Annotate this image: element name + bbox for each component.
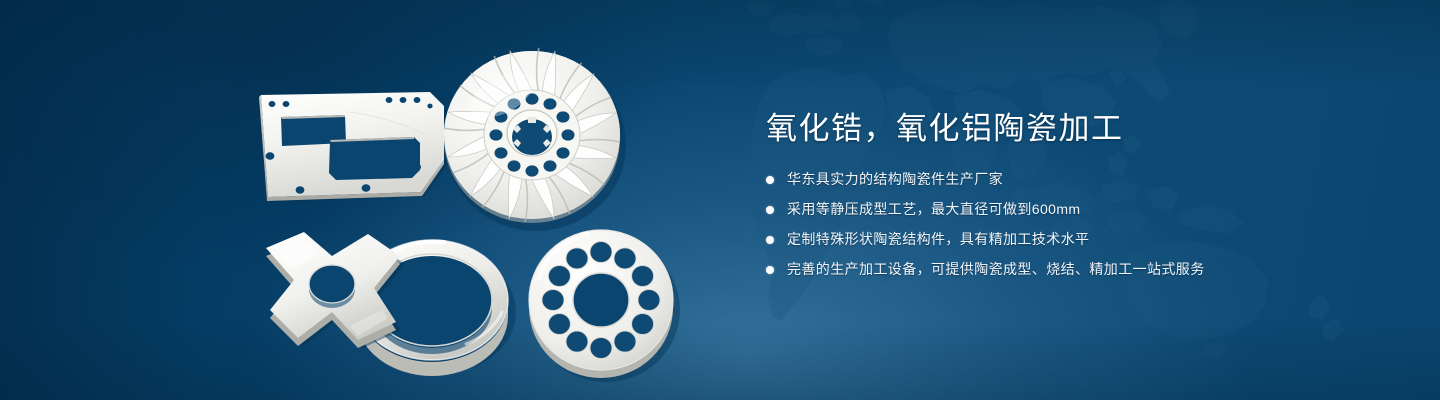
list-item: 定制特殊形状陶瓷结构件，具有精加工技术水平	[766, 230, 1386, 249]
list-item: 完善的生产加工设备，可提供陶瓷成型、烧结、精加工一站式服务	[766, 260, 1386, 279]
bullet-dot-icon	[766, 176, 774, 184]
bullet-dot-icon	[766, 266, 774, 274]
ceramic-flat-plate-image	[259, 92, 447, 202]
ceramic-perforated-disc-image	[529, 230, 680, 382]
feature-text: 完善的生产加工设备，可提供陶瓷成型、烧结、精加工一站式服务	[787, 260, 1205, 279]
banner-copy: 氧化锆，氧化铝陶瓷加工 华东具实力的结构陶瓷件生产厂家 采用等静压成型工艺，最大…	[766, 110, 1386, 290]
feature-text: 华东具实力的结构陶瓷件生产厂家	[787, 170, 1003, 189]
banner-headline: 氧化锆，氧化铝陶瓷加工	[766, 110, 1386, 148]
feature-text: 定制特殊形状陶瓷结构件，具有精加工技术水平	[787, 230, 1089, 249]
bullet-dot-icon	[766, 236, 774, 244]
product-collage	[0, 0, 720, 400]
list-item: 采用等静压成型工艺，最大直径可做到600mm	[766, 200, 1386, 219]
feature-text: 采用等静压成型工艺，最大直径可做到600mm	[787, 200, 1080, 219]
ceramic-impeller-image	[444, 48, 626, 231]
feature-list: 华东具实力的结构陶瓷件生产厂家 采用等静压成型工艺，最大直径可做到600mm 定…	[766, 170, 1386, 279]
bullet-dot-icon	[766, 206, 774, 214]
promo-banner: 氧化锆，氧化铝陶瓷加工 华东具实力的结构陶瓷件生产厂家 采用等静压成型工艺，最大…	[0, 0, 1440, 400]
list-item: 华东具实力的结构陶瓷件生产厂家	[766, 170, 1386, 189]
